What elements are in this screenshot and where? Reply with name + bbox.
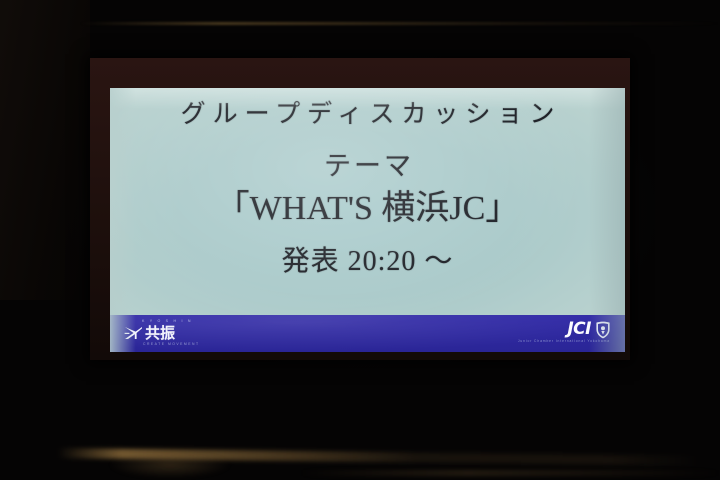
sponsor-kanji-wordmark: 共振 [145,326,175,341]
ambient-left-wall [0,0,90,300]
slide-footer-band: K Y O S H I N 共振 CREATE MOVEMENT JCI [110,315,625,352]
ambient-bottom-glow-patch [110,456,230,478]
ambient-top-light-streak [80,22,720,25]
jci-logo: JCI Junior Chamber International Yokoham… [471,321,611,349]
projection-screen-frame: グループディスカッション テーマ 「WHAT'S 横浜JC」 発表 20:20 … [90,58,630,360]
ambient-bottom-rail-highlight-secondary [300,470,720,476]
sponsor-mark-row: 共振 [124,325,244,342]
jci-wordmark: JCI [567,321,591,338]
sponsor-logo: K Y O S H I N 共振 CREATE MOVEMENT [124,318,244,349]
jci-shield-icon [595,321,611,339]
slide-text-block: グループディスカッション テーマ 「WHAT'S 横浜JC」 発表 20:20 … [110,102,625,276]
slide-presentation-time: 発表 20:20 〜 [110,248,625,276]
ambient-bottom-rail-highlight [58,448,698,466]
sponsor-tagline: CREATE MOVEMENT [124,343,244,346]
jci-logo-row: JCI [471,321,611,338]
dark-room-background: グループディスカッション テーマ 「WHAT'S 横浜JC」 発表 20:20 … [0,0,720,480]
slide-topic-title: 「WHAT'S 横浜JC」 [110,191,625,227]
projected-slide: グループディスカッション テーマ 「WHAT'S 横浜JC」 発表 20:20 … [110,88,625,352]
jci-tagline: Junior Chamber International Yokohama [471,340,611,343]
slide-theme-label: テーマ [110,153,625,180]
slide-heading: グループディスカッション [110,102,625,127]
sponsor-mark-icon [124,326,143,341]
sponsor-romaji-top: K Y O S H I N [124,318,244,324]
